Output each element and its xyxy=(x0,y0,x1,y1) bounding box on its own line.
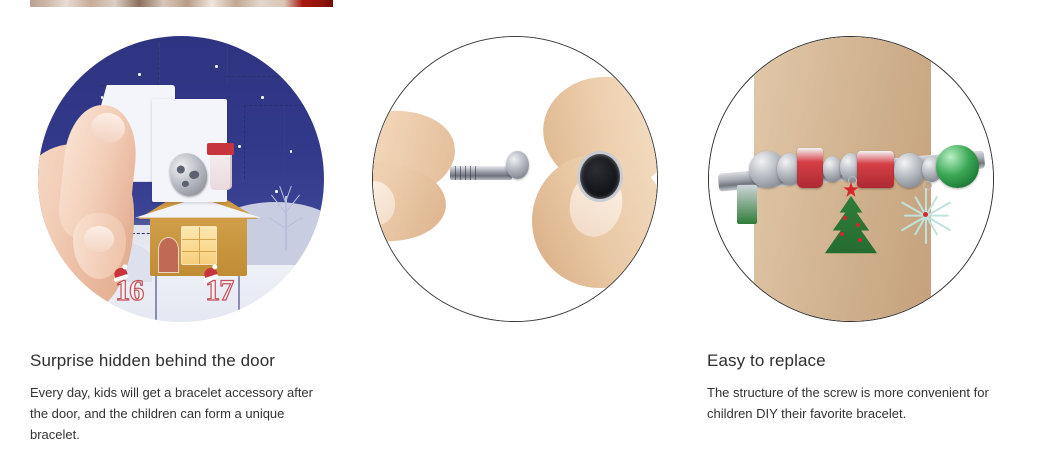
bare-tree-trunk xyxy=(285,196,287,250)
snowflake-bead xyxy=(894,153,925,187)
calendar-number-16: 16 xyxy=(115,276,143,306)
snow-fleck xyxy=(238,145,241,148)
christmas-tree-charm xyxy=(823,182,880,256)
snowflake-center-gem xyxy=(923,212,928,217)
feature-body: Every day, kids will get a bracelet acce… xyxy=(30,382,330,445)
calendar-grid-line xyxy=(284,105,285,179)
feature-column-3: A beautiful bracelet A beautiful and uni… xyxy=(676,0,1016,460)
charm-hook xyxy=(848,176,857,185)
bracelet-end-bead xyxy=(506,151,529,179)
calendar-dashed-line xyxy=(244,105,318,106)
advent-calendar-photo: 16 17 xyxy=(38,36,324,322)
window-mullion xyxy=(182,239,216,240)
stocking-bead xyxy=(797,148,823,188)
tree-bauble xyxy=(856,223,860,227)
charm-detail xyxy=(188,170,199,180)
screw-thread xyxy=(470,166,472,180)
calendar-dashed-line xyxy=(158,47,159,84)
calendar-number-17: 17 xyxy=(205,276,233,306)
tree-bauble xyxy=(840,232,844,236)
window-mullion xyxy=(182,251,216,252)
charm-detail xyxy=(181,180,189,188)
screw-thread xyxy=(465,166,467,180)
charm-detail xyxy=(176,165,186,174)
tree-star-icon xyxy=(843,182,859,198)
calendar-dashed-line xyxy=(227,76,301,77)
snow-fleck xyxy=(275,190,278,193)
snow-fleck xyxy=(261,96,264,99)
snow-fleck xyxy=(138,73,141,76)
tree-bauble xyxy=(843,216,847,220)
bracelet-scene xyxy=(709,37,993,321)
stocking-cuff xyxy=(207,143,234,154)
feature-column-2: Easy to replace The structure of the scr… xyxy=(340,0,680,460)
screw-clasp-scene xyxy=(373,37,657,321)
side-charm xyxy=(737,185,757,225)
advent-calendar-scene: 16 17 xyxy=(38,36,324,322)
calendar-dashed-line xyxy=(244,105,245,179)
window-mullion xyxy=(199,227,200,264)
product-feature-module: 16 17 Surprise hidden behind the door Ev… xyxy=(0,0,1048,460)
bracelet-on-wrist-photo xyxy=(708,36,994,322)
hand xyxy=(38,105,187,322)
bracelet-ring xyxy=(577,151,623,202)
feature-caption-1: Surprise hidden behind the door Every da… xyxy=(30,350,330,445)
green-glass-bead xyxy=(936,145,979,188)
screw-thread xyxy=(460,166,462,180)
stocking-charm xyxy=(210,150,233,190)
tree-bauble xyxy=(858,238,862,242)
screw-thread xyxy=(475,166,477,180)
calendar-grid-line xyxy=(227,42,228,85)
feature-column-1: 16 17 Surprise hidden behind the door Ev… xyxy=(0,0,340,460)
screw-clasp-photo xyxy=(372,36,658,322)
screw-thread xyxy=(455,166,457,180)
snowflake-charm xyxy=(902,188,950,245)
threaded-screw xyxy=(450,166,512,180)
tree-body xyxy=(823,196,880,256)
feature-heading: Surprise hidden behind the door xyxy=(30,350,330,372)
snow-fleck xyxy=(290,150,293,153)
